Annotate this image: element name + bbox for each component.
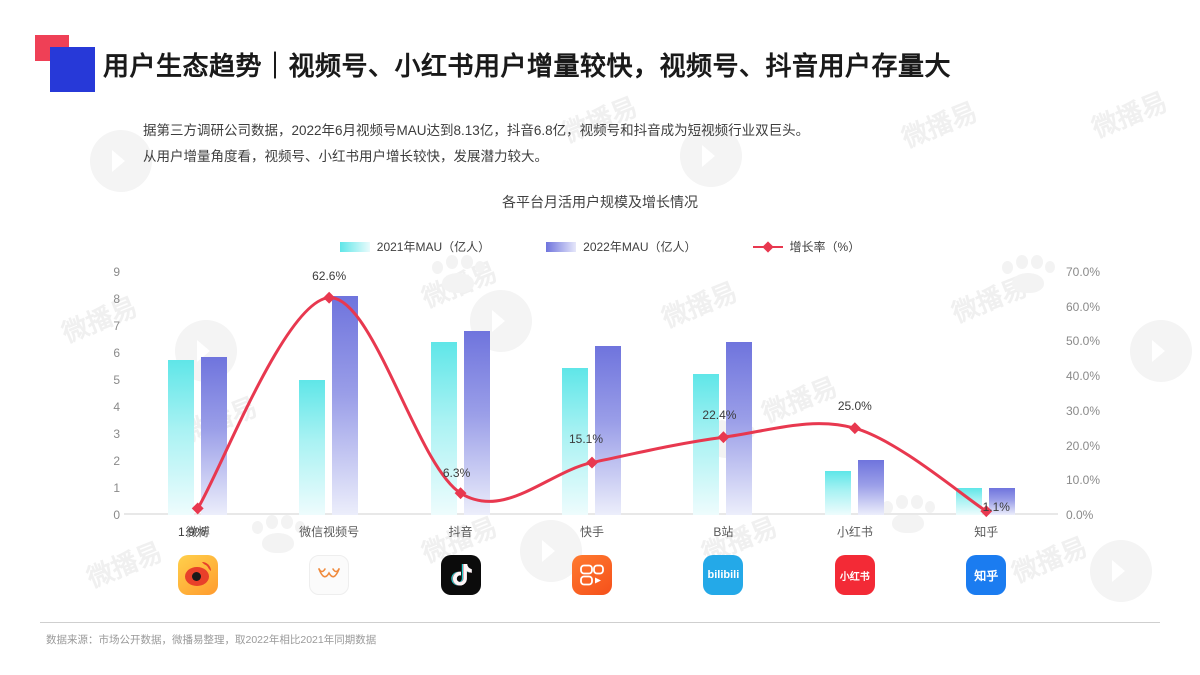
right-axis-tick: 70.0%	[1054, 265, 1124, 279]
left-axis-tick: 1	[86, 481, 132, 495]
legend-label-growth: 增长率（%）	[790, 238, 861, 255]
icon-cell-douyin	[395, 555, 526, 595]
page-title: 用户生态趋势｜视频号、小红书用户增量较快，视频号、抖音用户存量大	[103, 46, 951, 83]
zhihu-icon: 知乎	[966, 555, 1006, 595]
category-label: 微信视频号	[263, 523, 394, 540]
left-axis-tick: 2	[86, 454, 132, 468]
left-axis-tick: 7	[86, 319, 132, 333]
kuaishou-glyph	[579, 563, 605, 587]
legend-item-2022[interactable]: 2022年MAU（亿人）	[546, 238, 696, 255]
growth-marker[interactable]	[323, 292, 335, 304]
category-label: B站	[658, 523, 789, 540]
icon-cell-wechat-channels	[263, 555, 394, 595]
category-label: 抖音	[395, 523, 526, 540]
subtitle-line-2: 从用户增量角度看，视频号、小红书用户增长较快，发展潜力较大。	[143, 144, 809, 170]
legend-swatch-2022-icon	[546, 242, 576, 252]
brand-logo	[35, 35, 99, 95]
growth-value-label: 1.1%	[983, 500, 1010, 514]
kuaishou-icon	[572, 555, 612, 595]
growth-value-label: 62.6%	[312, 269, 346, 283]
left-axis-tick: 6	[86, 346, 132, 360]
growth-marker[interactable]	[192, 502, 204, 514]
left-axis-tick: 0	[86, 508, 132, 522]
right-axis-tick: 60.0%	[1054, 300, 1124, 314]
legend-item-growth[interactable]: 增长率（%）	[753, 238, 861, 255]
right-axis-tick: 10.0%	[1054, 473, 1124, 487]
left-axis-tick: 5	[86, 373, 132, 387]
icon-cell-zhihu: 知乎	[921, 555, 1052, 595]
zhihu-label: 知乎	[974, 567, 998, 584]
right-axis-tick: 20.0%	[1054, 439, 1124, 453]
growth-marker[interactable]	[849, 422, 861, 434]
footer-divider	[40, 622, 1160, 623]
growth-line-series	[132, 272, 1052, 515]
weibo-icon	[178, 555, 218, 595]
category-label: 快手	[526, 523, 657, 540]
watermark-text: 微播易	[896, 92, 982, 156]
right-axis-tick: 40.0%	[1054, 369, 1124, 383]
xiaohongshu-label: 小红书	[840, 568, 870, 583]
left-y-axis: 0123456789	[86, 272, 132, 515]
logo-blue-square	[50, 47, 95, 92]
douyin-icon	[441, 555, 481, 595]
bilibili-label: bilibili	[708, 569, 740, 581]
legend-swatch-2021-icon	[340, 242, 370, 252]
category-label: 微博	[132, 523, 263, 540]
chart-legend: 2021年MAU（亿人） 2022年MAU（亿人） 增长率（%）	[0, 238, 1200, 255]
growth-value-label: 25.0%	[838, 399, 872, 413]
left-axis-tick: 8	[86, 292, 132, 306]
growth-value-label: 22.4%	[702, 408, 736, 422]
plot-area: 0123456789 0.0%10.0%20.0%30.0%40.0%50.0%…	[132, 272, 1052, 515]
icon-cell-bilibili: bilibili	[658, 555, 789, 595]
left-axis-tick: 3	[86, 427, 132, 441]
subtitle-block: 据第三方调研公司数据，2022年6月视频号MAU达到8.13亿，抖音6.8亿，视…	[143, 118, 809, 170]
chart-title: 各平台月活用户规模及增长情况	[0, 192, 1200, 212]
xiaohongshu-icon: 小红书	[835, 555, 875, 595]
left-axis-tick: 4	[86, 400, 132, 414]
right-axis-tick: 30.0%	[1054, 404, 1124, 418]
chart-container: 各平台月活用户规模及增长情况 2021年MAU（亿人） 2022年MAU（亿人）…	[0, 180, 1200, 610]
bilibili-icon: bilibili	[703, 555, 743, 595]
watermark-text: 微播易	[1086, 82, 1172, 146]
right-axis-tick: 50.0%	[1054, 334, 1124, 348]
growth-marker[interactable]	[586, 457, 598, 469]
icon-cell-xiaohongshu: 小红书	[789, 555, 920, 595]
legend-item-2021[interactable]: 2021年MAU（亿人）	[340, 238, 490, 255]
legend-label-2021: 2021年MAU（亿人）	[377, 238, 490, 255]
subtitle-line-1: 据第三方调研公司数据，2022年6月视频号MAU达到8.13亿，抖音6.8亿，视…	[143, 118, 809, 144]
growth-value-label: 15.1%	[569, 432, 603, 446]
left-axis-tick: 9	[86, 265, 132, 279]
x-axis-categories: 微博微信视频号抖音快手B站小红书知乎	[132, 523, 1052, 540]
icon-cell-kuaishou	[526, 555, 657, 595]
icon-cell-weibo	[132, 555, 263, 595]
footer-source: 数据来源：市场公开数据，微播易整理，取2022年相比2021年同期数据	[46, 632, 376, 647]
wechat-channels-icon	[309, 555, 349, 595]
right-axis-tick: 0.0%	[1054, 508, 1124, 522]
category-label: 小红书	[789, 523, 920, 540]
platform-icons-row: bilibili 小红书 知乎	[132, 555, 1052, 595]
growth-value-label: 6.3%	[443, 466, 470, 480]
legend-label-2022: 2022年MAU（亿人）	[583, 238, 696, 255]
growth-marker[interactable]	[717, 431, 729, 443]
right-y-axis: 0.0%10.0%20.0%30.0%40.0%50.0%60.0%70.0%	[1054, 272, 1124, 515]
channels-glyph	[316, 565, 342, 585]
douyin-note-glyph	[450, 563, 472, 587]
weibo-signal-shape	[202, 562, 211, 571]
category-label: 知乎	[921, 523, 1052, 540]
legend-line-growth-icon	[753, 242, 783, 252]
